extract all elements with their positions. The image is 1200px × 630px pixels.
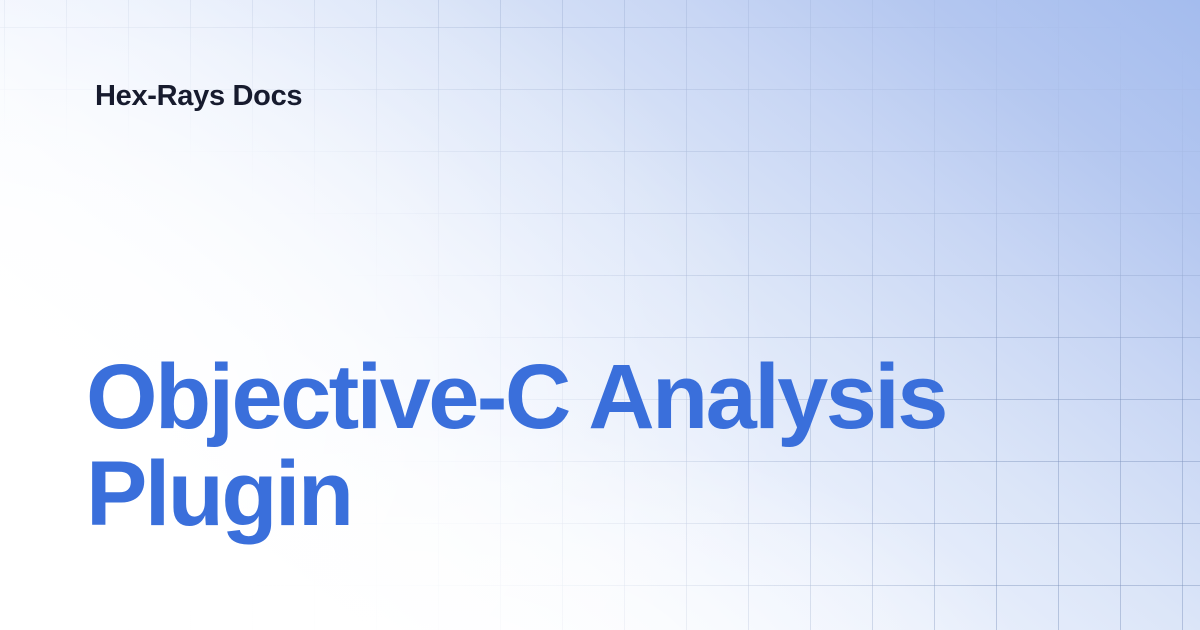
og-card: Hex-Rays Docs Objective-C Analysis Plugi… xyxy=(0,0,1200,630)
card-content: Hex-Rays Docs Objective-C Analysis Plugi… xyxy=(0,0,1200,630)
brand-eyebrow-label: Hex-Rays Docs xyxy=(95,79,302,114)
page-title: Objective-C Analysis Plugin xyxy=(86,349,1096,543)
